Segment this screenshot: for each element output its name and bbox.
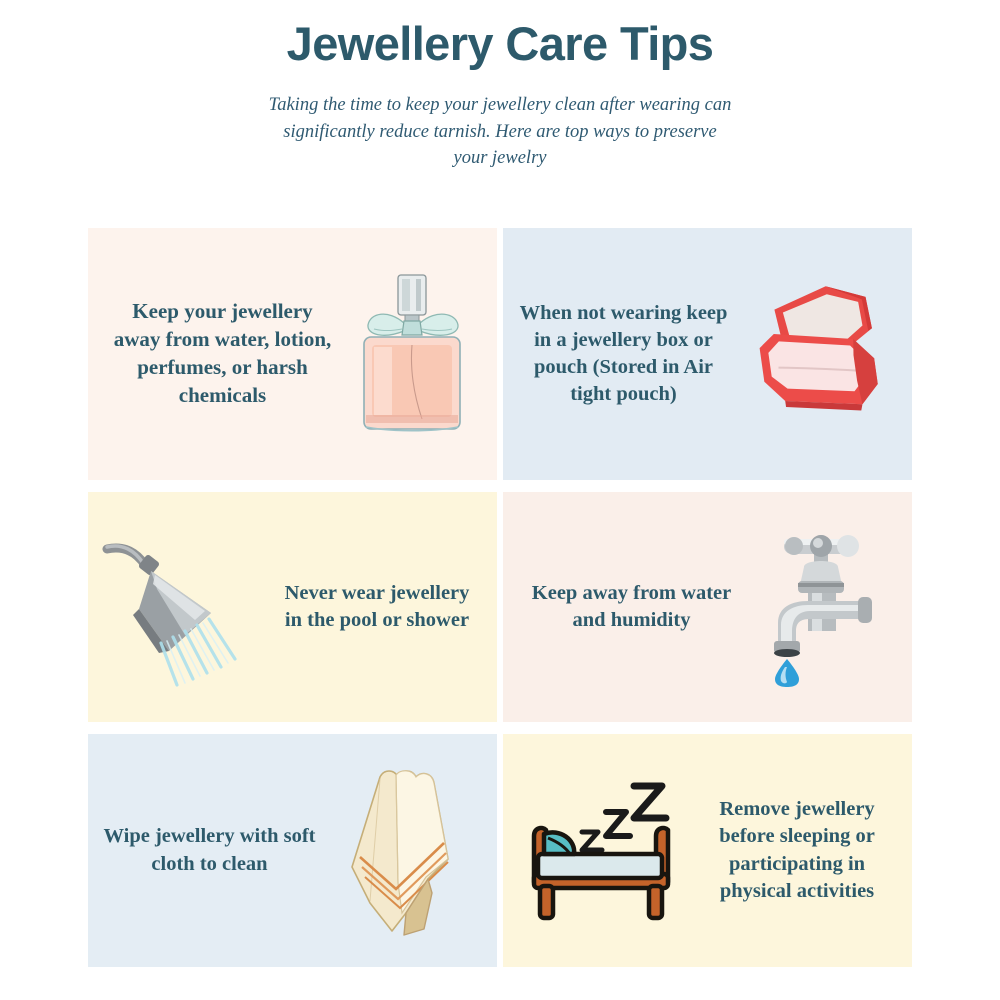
card-bed[interactable]: Remove jewellery before sleeping or part… <box>503 734 912 967</box>
card-bed-text: Remove jewellery before sleeping or part… <box>688 796 912 905</box>
card-jewellery-box[interactable]: When not wearing keep in a jewellery box… <box>503 228 912 480</box>
infographic-page: Jewellery Care Tips Taking the time to k… <box>0 0 1000 1000</box>
card-shower[interactable]: Never wear jewellery in the pool or show… <box>88 492 497 722</box>
header: Jewellery Care Tips Taking the time to k… <box>0 0 1000 172</box>
page-title: Jewellery Care Tips <box>0 18 1000 70</box>
tips-grid: Keep your jewellery away from water, lot… <box>88 228 912 967</box>
jewellery-box-icon <box>738 267 898 442</box>
card-perfume-text: Keep your jewellery away from water, lot… <box>88 298 337 410</box>
card-faucet-text: Keep away from water and humidity <box>503 580 748 635</box>
page-subtitle: Taking the time to keep your jewellery c… <box>265 92 735 172</box>
bed-sleep-icon <box>513 776 688 926</box>
cloth-icon <box>325 763 475 938</box>
card-perfume[interactable]: Keep your jewellery away from water, lot… <box>88 228 497 480</box>
card-faucet[interactable]: Keep away from water and humidity <box>503 492 912 722</box>
faucet-icon <box>748 525 898 690</box>
card-cloth-text: Wipe jewellery with soft cloth to clean <box>88 823 325 878</box>
card-shower-text: Never wear jewellery in the pool or show… <box>271 580 497 635</box>
perfume-bottle-icon <box>337 267 487 442</box>
card-cloth[interactable]: Wipe jewellery with soft cloth to clean <box>88 734 497 967</box>
shower-head-icon <box>96 525 271 690</box>
card-jewellery-box-text: When not wearing keep in a jewellery box… <box>503 300 738 409</box>
